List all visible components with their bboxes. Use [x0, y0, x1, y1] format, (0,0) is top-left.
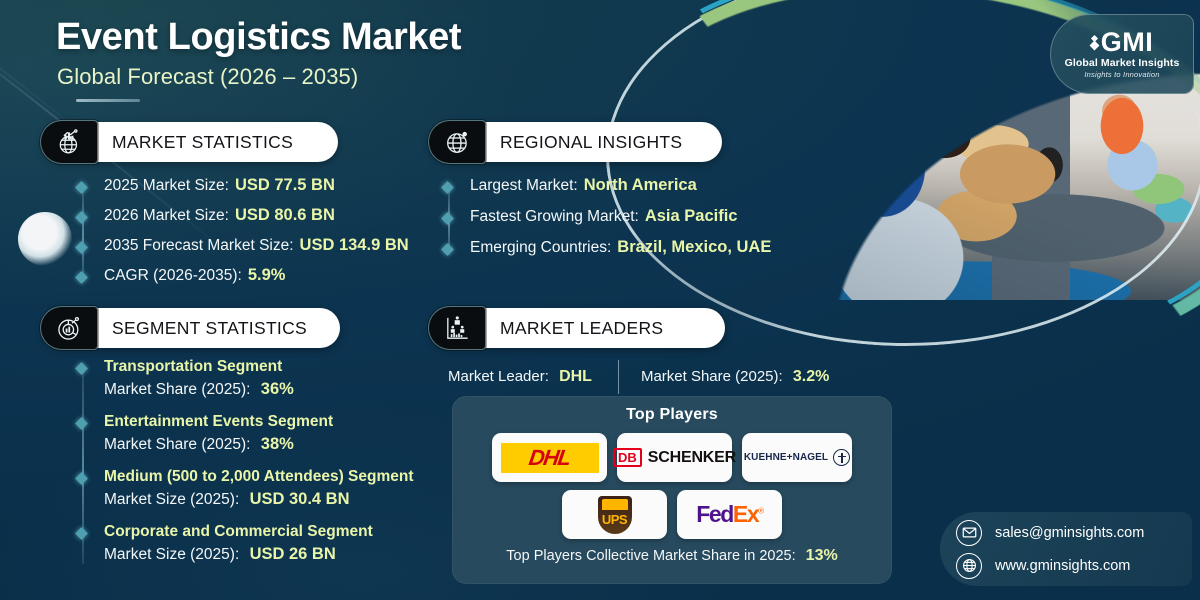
list-item: Largest Market: North America: [448, 176, 828, 195]
market-leader-cell: Market Leader: DHL: [448, 368, 592, 386]
player-logo-fedex[interactable]: FedEx®: [677, 490, 782, 539]
fedex-logo-icon: FedEx®: [696, 501, 763, 528]
segment-metric-value: 36%: [261, 380, 294, 398]
dhl-logo-icon: DHL: [501, 443, 599, 473]
segment-name: Transportation Segment: [104, 358, 482, 376]
collective-share-label: Top Players Collective Market Share in 2…: [506, 548, 795, 564]
list-item-label: 2025 Market Size:: [104, 177, 229, 195]
diamond-icon: [1091, 36, 1098, 49]
list-item-label: Largest Market:: [470, 177, 578, 195]
globe-chart-icon: [40, 120, 98, 164]
page-title: Event Logistics Market: [56, 16, 461, 59]
schenker-text: SCHENKER: [648, 449, 736, 467]
registered-icon: ®: [758, 506, 763, 515]
segment-metric: Market Size (2025): USD 26 BN: [104, 545, 482, 564]
globe-pin-icon: [428, 120, 486, 164]
segment-statistics-list: Transportation Segment Market Share (202…: [82, 358, 482, 578]
player-logo-ups[interactable]: UPS: [562, 490, 667, 539]
segment-metric-value: USD 26 BN: [250, 545, 336, 563]
segment-name: Entertainment Events Segment: [104, 413, 482, 431]
section-header-segment-statistics: SEGMENT STATISTICS: [42, 308, 340, 348]
market-leader-value: DHL: [559, 368, 592, 385]
contact-website: www.gminsights.com: [995, 558, 1130, 574]
list-item-value: Asia Pacific: [645, 207, 738, 226]
list-item-value: 5.9%: [248, 266, 286, 285]
list-item-value: USD 80.6 BN: [235, 206, 335, 225]
anchor-icon: [833, 449, 850, 466]
list-item-label: 2026 Market Size:: [104, 207, 229, 225]
segment-metric: Market Share (2025): 38%: [104, 435, 482, 454]
segment-metric-value: 38%: [261, 435, 294, 453]
list-item: CAGR (2026-2035): 5.9%: [82, 266, 442, 285]
segment-name: Medium (500 to 2,000 Attendees) Segment: [104, 468, 482, 486]
podium-chart-icon: [428, 306, 486, 350]
market-share-label: Market Share (2025):: [641, 368, 783, 385]
contact-website-row[interactable]: www.gminsights.com: [956, 553, 1192, 579]
contact-block: sales@gminsights.com www.gminsights.com: [940, 512, 1192, 586]
list-item: Emerging Countries: Brazil, Mexico, UAE: [448, 238, 828, 257]
divider: [618, 360, 619, 394]
market-leader-summary: Market Leader: DHL Market Share (2025): …: [448, 360, 888, 394]
segment-metric-label: Market Share (2025):: [104, 381, 250, 398]
collective-share: Top Players Collective Market Share in 2…: [464, 547, 880, 565]
fedex-ex-text: Ex: [733, 501, 758, 527]
regional-insights-list: Largest Market: North America Fastest Gr…: [448, 176, 828, 269]
envelope-icon: [956, 520, 982, 546]
list-item-label: Fastest Growing Market:: [470, 208, 639, 226]
segment-metric: Market Size (2025): USD 30.4 BN: [104, 490, 482, 509]
list-item: Corporate and Commercial Segment Market …: [82, 523, 482, 564]
list-item-label: Emerging Countries:: [470, 239, 611, 257]
list-item: Entertainment Events Segment Market Shar…: [82, 413, 482, 454]
segment-name: Corporate and Commercial Segment: [104, 523, 482, 541]
dhl-logo-text: DHL: [527, 445, 571, 471]
top-players-row-1: DHL DB SCHENKER KUEHNE+NAGEL: [464, 433, 880, 482]
section-title-market-leaders: MARKET LEADERS: [500, 318, 663, 339]
list-item: Medium (500 to 2,000 Attendees) Segment …: [82, 468, 482, 509]
list-item: 2035 Forecast Market Size: USD 134.9 BN: [82, 236, 442, 255]
globe-icon: [956, 553, 982, 579]
db-schenker-logo-icon: DB SCHENKER: [613, 448, 736, 467]
kuehne-nagel-logo-icon: KUEHNE+NAGEL: [744, 449, 850, 466]
section-header-market-leaders: MARKET LEADERS: [430, 308, 725, 348]
list-item: Fastest Growing Market: Asia Pacific: [448, 207, 828, 226]
arc-glow-dot: [18, 212, 72, 266]
gmi-logo-mark: GMI: [1091, 29, 1154, 56]
section-title-market-statistics: MARKET STATISTICS: [112, 132, 293, 153]
market-leader-label: Market Leader:: [448, 368, 549, 385]
gmi-tagline: Insights to Innovation: [1084, 70, 1159, 79]
list-item: Transportation Segment Market Share (202…: [82, 358, 482, 399]
section-header-regional-insights: REGIONAL INSIGHTS: [430, 122, 722, 162]
list-item-value: USD 134.9 BN: [300, 236, 409, 255]
segment-metric-label: Market Size (2025):: [104, 546, 239, 563]
list-item-label: CAGR (2026-2035):: [104, 267, 242, 285]
player-logo-dhl[interactable]: DHL: [492, 433, 607, 482]
top-players-title: Top Players: [464, 406, 880, 424]
donut-chart-icon: [40, 306, 98, 350]
list-item-label: 2035 Forecast Market Size:: [104, 237, 294, 255]
segment-metric-value: USD 30.4 BN: [250, 490, 350, 508]
list-item: 2026 Market Size: USD 80.6 BN: [82, 206, 442, 225]
segment-metric-label: Market Size (2025):: [104, 491, 239, 508]
ups-logo-text: UPS: [602, 512, 627, 527]
gmi-full-name: Global Market Insights: [1065, 57, 1180, 69]
list-item-value: Brazil, Mexico, UAE: [617, 238, 771, 257]
section-title-segment-statistics: SEGMENT STATISTICS: [112, 318, 307, 339]
segment-metric: Market Share (2025): 36%: [104, 380, 482, 399]
contact-email: sales@gminsights.com: [995, 525, 1144, 541]
market-share-value: 3.2%: [793, 368, 829, 385]
top-players-panel: Top Players DHL DB SCHENKER KUEHNE+NAGEL…: [452, 396, 892, 584]
top-players-row-2: UPS FedEx®: [464, 490, 880, 539]
segment-metric-label: Market Share (2025):: [104, 436, 250, 453]
gmi-logo: GMI Global Market Insights Insights to I…: [1050, 14, 1194, 94]
market-share-cell: Market Share (2025): 3.2%: [641, 368, 829, 386]
player-logo-db-schenker[interactable]: DB SCHENKER: [617, 433, 732, 482]
section-title-regional-insights: REGIONAL INSIGHTS: [500, 132, 682, 153]
contact-email-row[interactable]: sales@gminsights.com: [956, 520, 1192, 546]
gmi-wordmark: GMI: [1101, 29, 1154, 56]
player-logo-kuehne-nagel[interactable]: KUEHNE+NAGEL: [742, 433, 852, 482]
list-item-value: North America: [584, 176, 697, 195]
list-item-value: USD 77.5 BN: [235, 176, 335, 195]
title-divider: [76, 99, 140, 102]
ups-shield-icon: UPS: [598, 496, 632, 534]
market-statistics-list: 2025 Market Size: USD 77.5 BN 2026 Marke…: [82, 176, 442, 296]
kuehne-nagel-text: KUEHNE+NAGEL: [744, 452, 828, 463]
collective-share-value: 13%: [806, 547, 838, 564]
db-mark: DB: [613, 448, 642, 467]
fedex-fed-text: Fed: [696, 501, 733, 527]
list-item: 2025 Market Size: USD 77.5 BN: [82, 176, 442, 195]
section-header-market-statistics: MARKET STATISTICS: [42, 122, 338, 162]
page-subtitle: Global Forecast (2026 – 2035): [57, 64, 358, 90]
